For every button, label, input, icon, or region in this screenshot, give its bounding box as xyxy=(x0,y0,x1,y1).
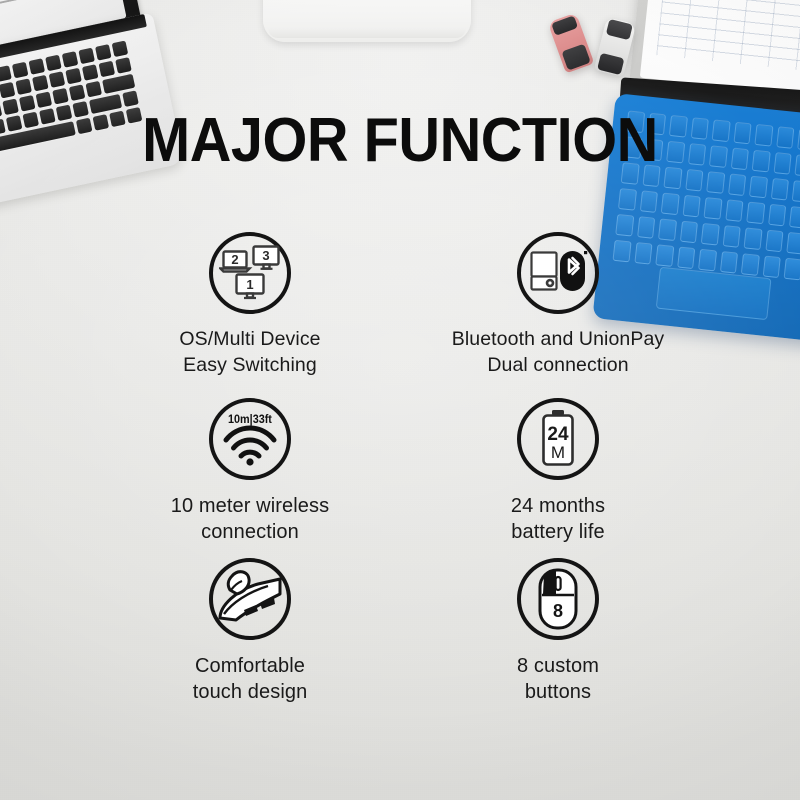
feature-grid: 2 3 1 OS/Multi Device Easy Switching xyxy=(96,232,712,718)
battery-value: 24 xyxy=(547,424,569,445)
feature-wireless-range: 10m|33ft 10 meter wireless connection xyxy=(96,398,404,558)
feature-caption: OS/Multi Device Easy Switching xyxy=(179,327,320,378)
bluetooth-unionpay-icon xyxy=(517,232,599,314)
device-label-3: 3 xyxy=(262,248,269,263)
feature-touch-design: Comfortable touch design xyxy=(96,558,404,718)
device-label-2: 2 xyxy=(231,252,238,267)
feature-custom-buttons: 8 8 custom buttons xyxy=(404,558,712,718)
button-count-label: 8 xyxy=(553,601,563,621)
feature-caption: 10 meter wireless connection xyxy=(171,493,329,546)
multi-device-switching-icon: 2 3 1 xyxy=(209,232,291,314)
page-title: MAJOR FUNCTION xyxy=(28,110,772,172)
feature-caption: 24 months battery life xyxy=(511,493,605,546)
feature-battery-life: 24 M 24 months battery life xyxy=(404,398,712,558)
battery-life-icon: 24 M xyxy=(517,398,599,480)
battery-unit: M xyxy=(551,443,565,462)
wireless-range-icon: 10m|33ft xyxy=(209,398,291,480)
feature-caption: Comfortable touch design xyxy=(193,653,308,706)
infographic-poster: MAJOR FUNCTION 2 3 xyxy=(0,0,800,800)
feature-bluetooth-unionpay: Bluetooth and UnionPay Dual connection xyxy=(404,232,712,398)
device-label-1: 1 xyxy=(246,277,253,292)
range-label: 10m|33ft xyxy=(228,414,272,426)
custom-buttons-mouse-icon: 8 xyxy=(517,558,599,640)
feature-caption: Bluetooth and UnionPay Dual connection xyxy=(452,327,665,378)
feature-caption: 8 custom buttons xyxy=(517,653,599,706)
touch-design-icon xyxy=(209,558,291,640)
feature-multi-device: 2 3 1 OS/Multi Device Easy Switching xyxy=(96,232,404,398)
